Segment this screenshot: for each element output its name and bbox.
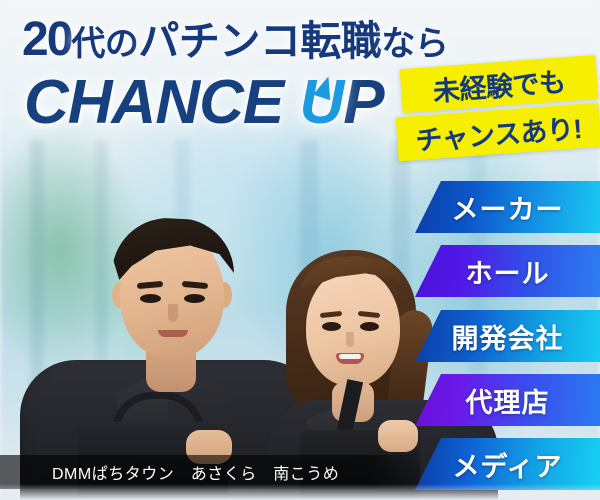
businesswoman-eye-right — [360, 322, 379, 331]
headline-suffix: 代の — [71, 25, 138, 63]
logo-accent-tail: P — [343, 68, 383, 137]
businesswoman-teeth — [339, 354, 361, 359]
category-button-developer[interactable]: 開発会社 — [415, 310, 600, 362]
headline-text: 20代のパチンコ転職なら — [22, 16, 448, 64]
category-button-hall[interactable]: ホール — [415, 245, 600, 297]
businesswoman-hand — [378, 420, 418, 452]
businessman-eye-left — [140, 294, 161, 303]
businesswoman-eye-left — [322, 322, 341, 331]
bottom-fade-overlay — [0, 484, 600, 500]
businessman-eye-right — [184, 294, 205, 303]
businessman-nose — [168, 304, 178, 322]
businesswoman-nose — [346, 332, 354, 347]
logo-main-text: CHANCE — [24, 68, 283, 137]
businesswoman-face — [306, 268, 400, 386]
credit-text: DMMぱちタウン あさくら 南こうめ — [52, 460, 339, 484]
businessman-mouth — [158, 330, 188, 337]
headline-number: 20 — [22, 13, 71, 66]
advertisement-banner[interactable]: 20代のパチンコ転職なら CHANCE UP 未経験でも チャンスあり! メーカ… — [0, 0, 600, 500]
category-button-maker[interactable]: メーカー — [415, 181, 600, 233]
headline-keyword: パチンコ転職 — [138, 18, 381, 64]
category-button-media[interactable]: メディア — [415, 438, 600, 490]
headline-tail: なら — [381, 25, 448, 63]
category-button-agency[interactable]: 代理店 — [415, 374, 600, 426]
